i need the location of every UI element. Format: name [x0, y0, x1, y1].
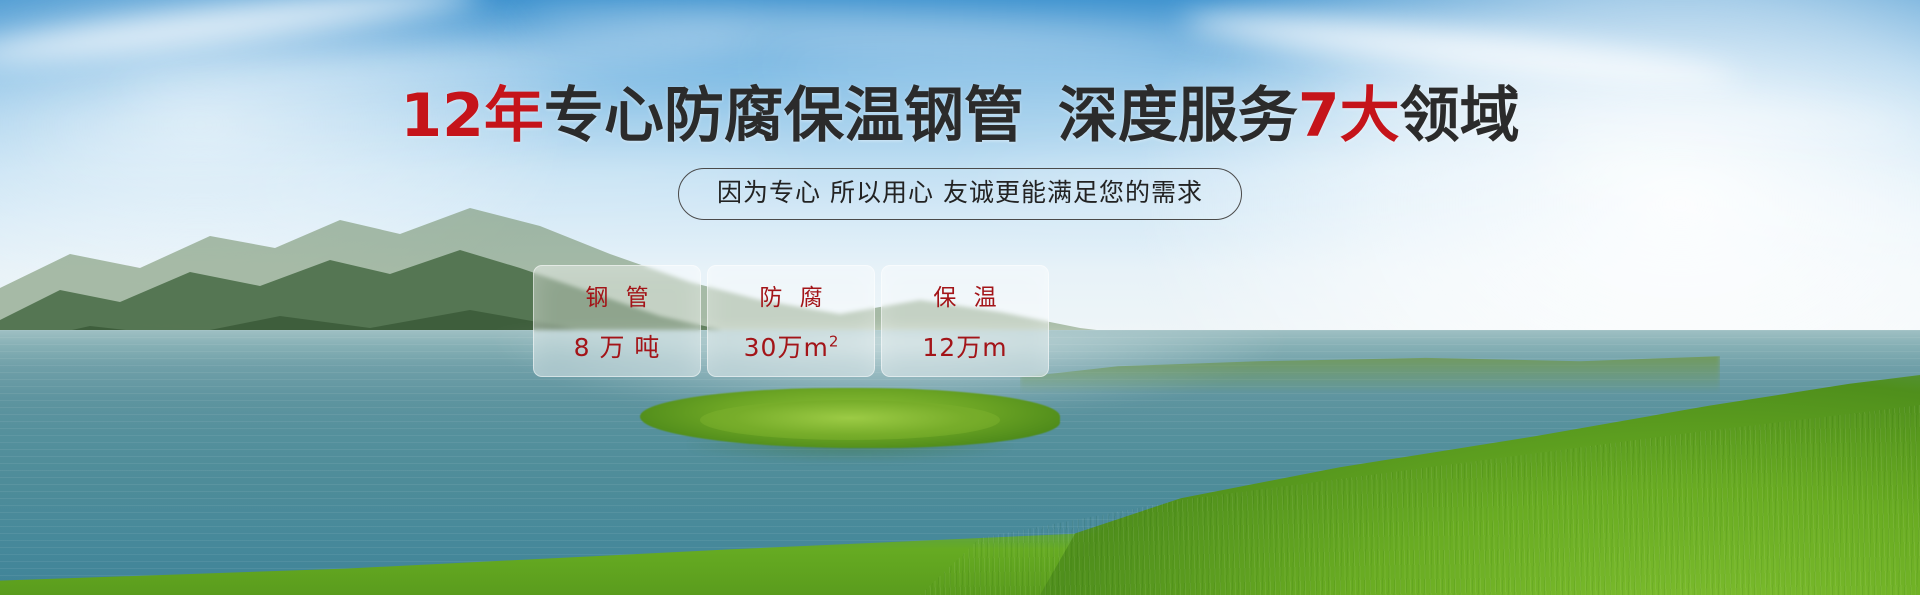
stat-card-title: 保 温: [928, 278, 1001, 312]
headline-fields-text: 领域: [1400, 81, 1520, 151]
stat-value-text: 12万m: [922, 333, 1007, 362]
stat-card-title: 防 腐: [754, 278, 827, 312]
promo-banner: 12年专心防腐保温钢管深度服务7大领域 因为专心 所以用心 友诚更能满足您的需求…: [0, 0, 1920, 595]
stat-value-superscript: 2: [829, 333, 839, 351]
stat-card-steel-pipe[interactable]: 钢 管 8 万 吨: [533, 265, 701, 377]
subtitle-pill: 因为专心 所以用心 友诚更能满足您的需求: [678, 168, 1242, 220]
stat-value-text: 8 万 吨: [574, 333, 661, 362]
subtitle-container: 因为专心 所以用心 友诚更能满足您的需求: [0, 168, 1920, 220]
page-title: 12年专心防腐保温钢管深度服务7大领域: [0, 83, 1920, 149]
stat-card-insulation[interactable]: 保 温 12万m: [881, 265, 1049, 377]
stat-card-value: 12万m: [922, 328, 1007, 364]
stat-card-value: 8 万 吨: [574, 328, 661, 364]
stats-card-group: 钢 管 8 万 吨 防 腐 30万m2 保 温 12万m: [533, 265, 1049, 377]
headline-main-text: 专心防腐保温钢管: [544, 81, 1024, 151]
headline-years-highlight: 12年: [400, 81, 544, 151]
stat-card-title: 钢 管: [580, 278, 653, 312]
stat-card-anticorrosion[interactable]: 防 腐 30万m2: [707, 265, 875, 377]
headline-count-highlight: 7大: [1298, 81, 1400, 151]
stat-value-text: 30万m: [744, 333, 829, 362]
island-highlight: [700, 400, 1000, 440]
headline-service-text: 深度服务: [1058, 81, 1298, 151]
stat-card-value: 30万m2: [744, 328, 839, 364]
